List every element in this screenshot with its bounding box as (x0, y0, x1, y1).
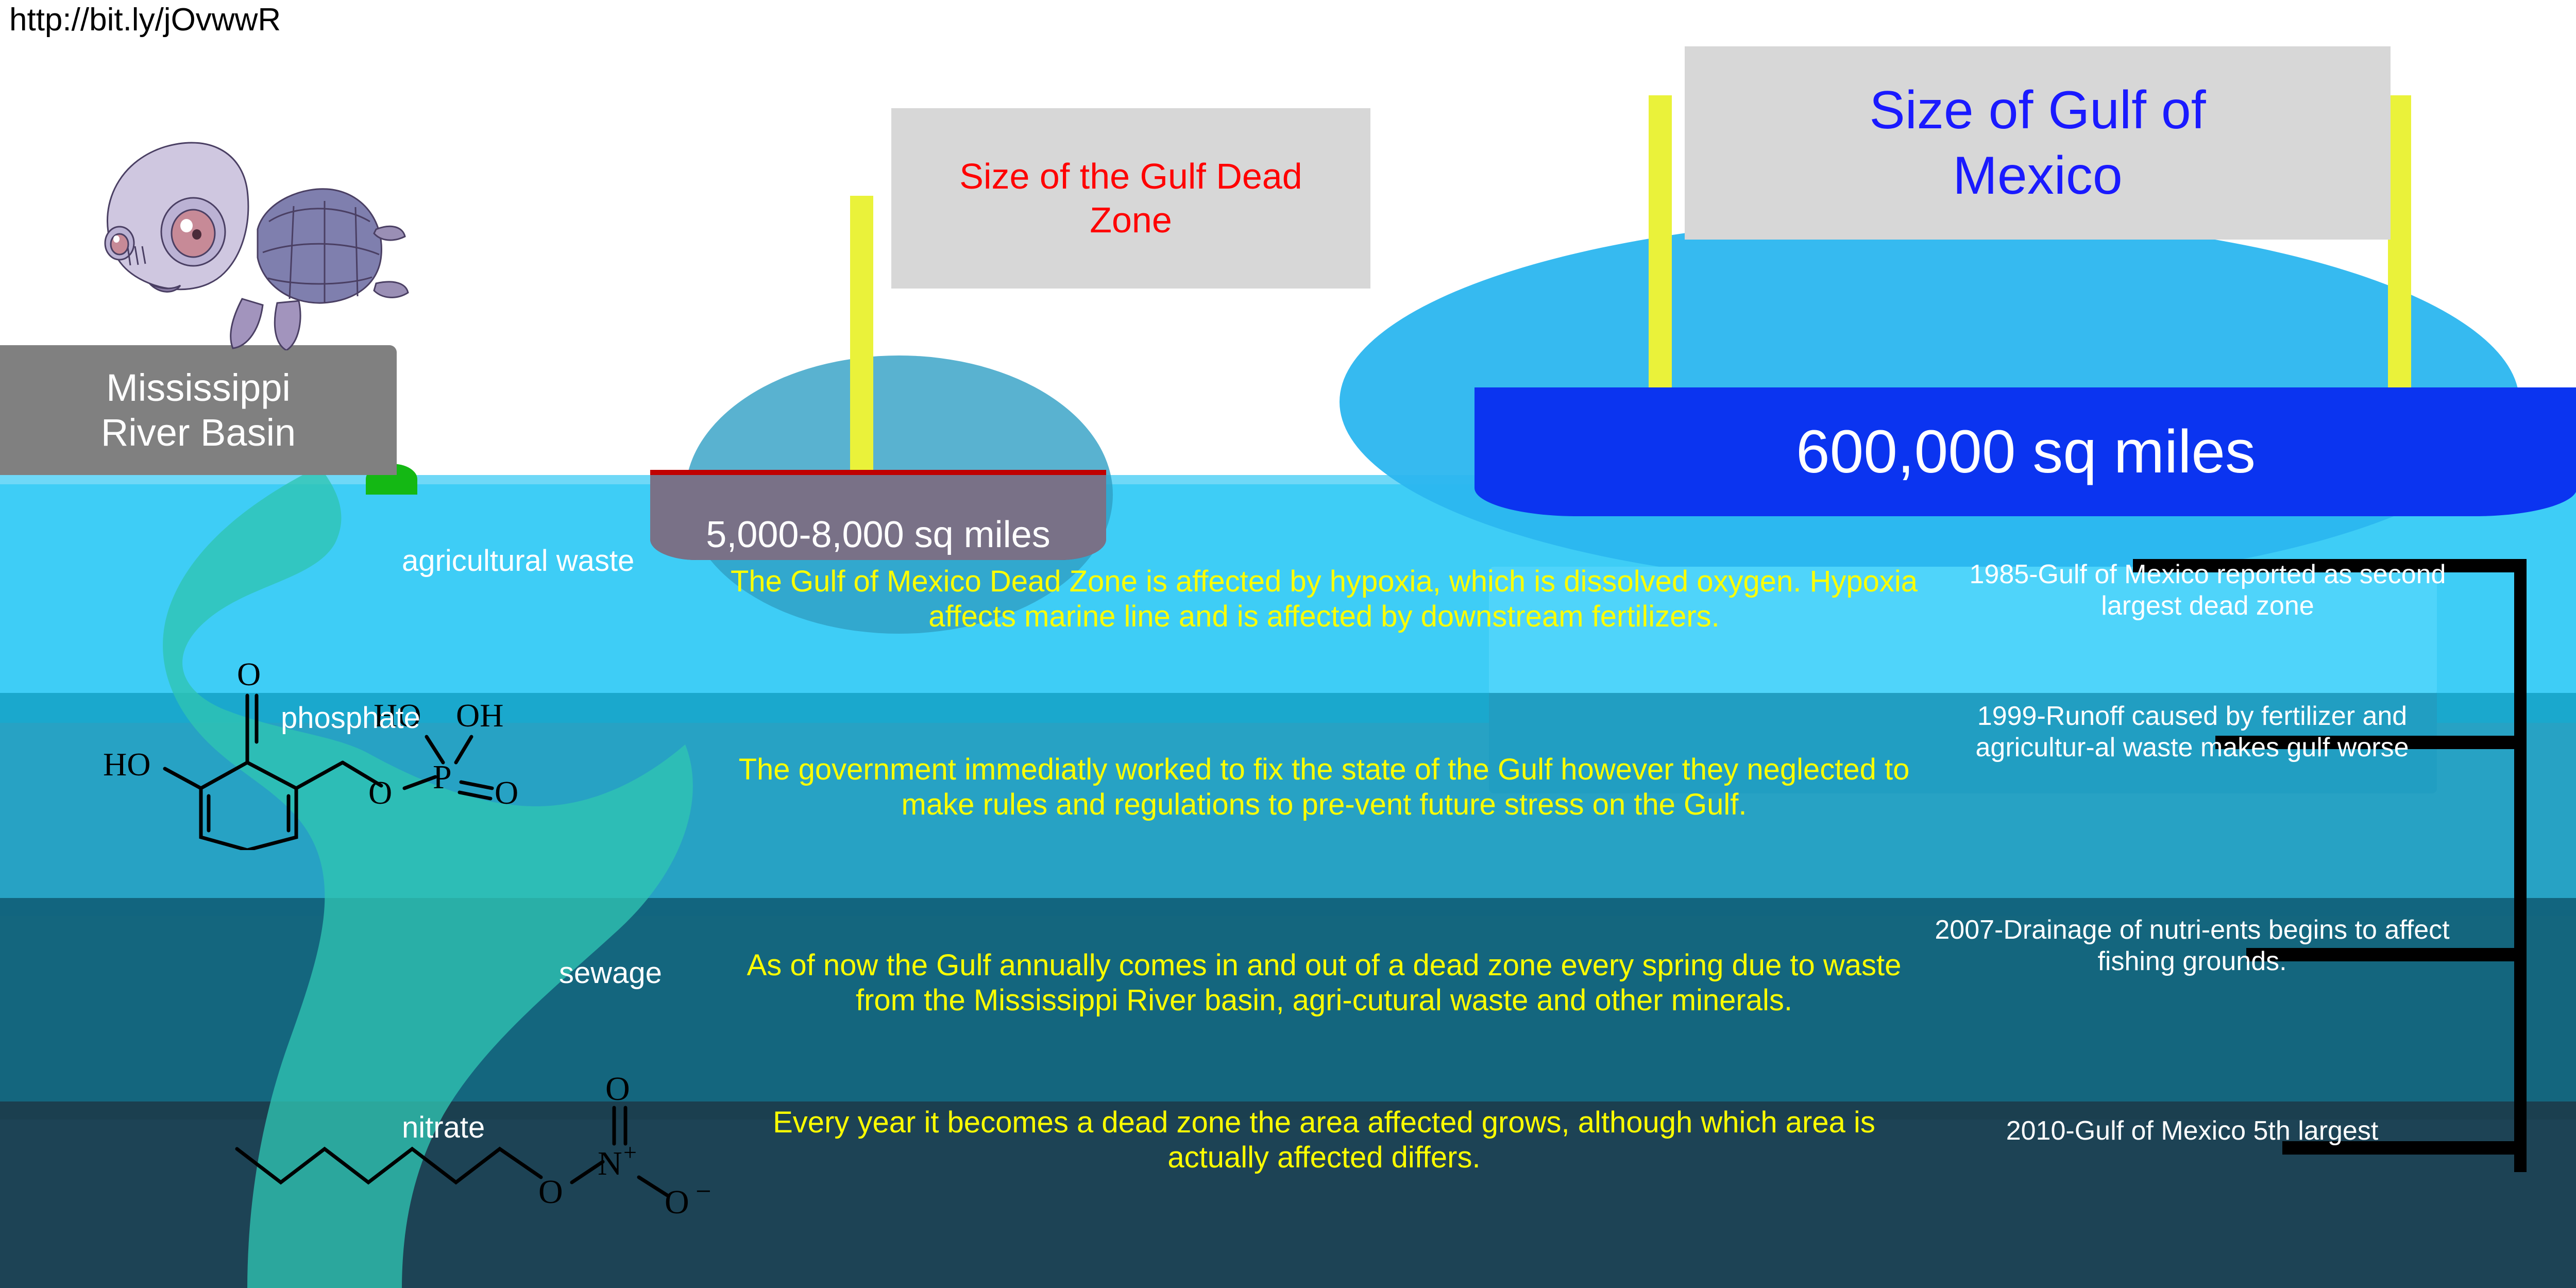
gulf-sign-line2: Mexico (1953, 146, 2122, 206)
label-sewage: sewage (559, 956, 662, 990)
svg-text:O: O (605, 1072, 630, 1108)
paragraph-growth: Every year it becomes a dead zone the ar… (721, 1105, 1927, 1175)
dead-zone-value-label: 5,000-8,000 sq miles (706, 514, 1050, 560)
infographic-canvas: Size of the Gulf Dead Zone Size of Gulf … (0, 0, 2576, 1288)
svg-text:O: O (538, 1173, 563, 1211)
timeline-entry-2010: 2010-Gulf of Mexico 5th largest (1929, 1115, 2455, 1147)
mississippi-river-basin-plate: Mississippi River Basin (0, 345, 397, 475)
svg-text:O: O (237, 656, 261, 692)
timeline-entry-2007: 2007-Drainage of nutri-ents begins to af… (1929, 914, 2455, 978)
dead-zone-sign-line2: Zone (1090, 200, 1172, 240)
nitrate-molecule-diagram: O N + O O − (232, 1072, 778, 1226)
svg-text:OH: OH (456, 697, 503, 734)
dead-zone-sign-text: Size of the Gulf Dead Zone (959, 155, 1302, 243)
label-phosphate: phosphate (281, 701, 420, 735)
paragraph-government: The government immediatly worked to fix … (721, 752, 1927, 822)
dead-zone-sign-pole (850, 196, 873, 474)
basin-plate-line2: River Basin (101, 410, 296, 455)
dead-zone-sign: Size of the Gulf Dead Zone (891, 108, 1370, 289)
dead-zone-sign-line1: Size of the Gulf Dead (959, 156, 1302, 196)
svg-text:N: N (598, 1145, 622, 1182)
timeline-entry-1999: 1999-Runoff caused by fertilizer and agr… (1929, 701, 2455, 764)
sea-turtle-illustration (88, 129, 417, 350)
paragraph-annual-cycle: As of now the Gulf annually comes in and… (721, 948, 1927, 1018)
gulf-sign-text: Size of Gulf of Mexico (1869, 78, 2206, 209)
gulf-value-bar: 600,000 sq miles (1475, 387, 2576, 516)
gulf-sign: Size of Gulf of Mexico (1685, 46, 2391, 240)
basin-plate-line1: Mississippi (106, 365, 291, 410)
svg-text:HO: HO (103, 746, 150, 783)
svg-text:O: O (368, 774, 392, 811)
svg-text:O: O (665, 1183, 689, 1221)
svg-text:−: − (696, 1176, 711, 1207)
label-nitrate: nitrate (402, 1110, 485, 1145)
gulf-sign-line1: Size of Gulf of (1869, 80, 2206, 140)
dead-zone-value-label-wrap: 5,000-8,000 sq miles (650, 470, 1106, 560)
timeline-entry-1985: 1985-Gulf of Mexico reported as second l… (1929, 559, 2486, 622)
timeline-spine (2514, 559, 2527, 1172)
svg-text:O: O (495, 774, 518, 811)
phosphate-molecule-diagram: O HO O P HO OH O (93, 634, 649, 850)
label-agricultural-waste: agricultural waste (402, 544, 634, 578)
source-url-label: http://bit.ly/jOvwwR (9, 2, 281, 38)
gulf-value-label: 600,000 sq miles (1796, 417, 2256, 487)
paragraph-hypoxia: The Gulf of Mexico Dead Zone is affected… (721, 564, 1927, 634)
